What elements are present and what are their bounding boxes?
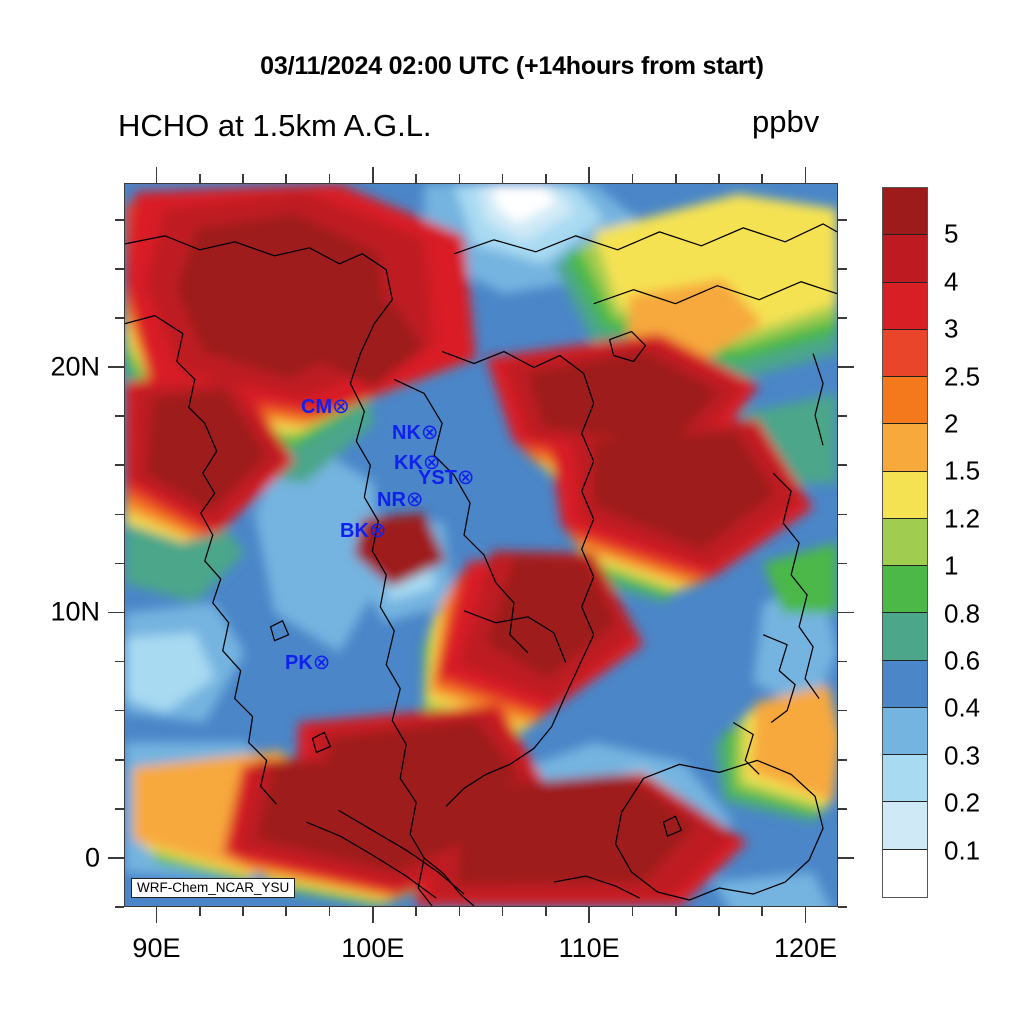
colorbar-band: [883, 235, 927, 282]
colorbar-tick-label: 0.6: [944, 646, 980, 677]
y-tick: [115, 317, 124, 319]
station-marker-nk[interactable]: NK⊗: [392, 422, 439, 443]
x-tick: [415, 907, 417, 916]
x-tick-top: [718, 174, 720, 183]
colorbar-band: [883, 755, 927, 802]
hcho-concentration-field: [125, 184, 837, 906]
colorbar-tick-label: 0.1: [944, 835, 980, 866]
units-label: ppbv: [752, 104, 819, 140]
x-tick: [805, 907, 807, 923]
plot-subtitle: HCHO at 1.5km A.G.L.: [118, 108, 432, 144]
colorbar-band: [883, 330, 927, 377]
station-label-bk: BK: [340, 520, 369, 542]
x-tick-top: [632, 174, 634, 183]
station-label-yst: YST: [418, 467, 457, 489]
colorbar-tick-label: 0.3: [944, 740, 980, 771]
y-tick-right: [838, 906, 847, 908]
colorbar-band: [883, 424, 927, 471]
x-tick: [242, 907, 244, 916]
y-tick-right: [838, 219, 847, 221]
x-tick-top: [588, 167, 590, 183]
y-tick: [108, 366, 124, 368]
colorbar-tick-label: 2.5: [944, 361, 980, 392]
y-tick-right: [838, 808, 847, 810]
colorbar-band: [883, 613, 927, 660]
x-tick-top: [285, 174, 287, 183]
x-tick: [459, 907, 461, 916]
y-tick: [115, 808, 124, 810]
colorbar-band: [883, 519, 927, 566]
y-tick-right: [838, 268, 847, 270]
x-tick: [545, 907, 547, 916]
station-marker-yst[interactable]: YST⊗: [418, 467, 475, 488]
figure-canvas: 03/11/2024 02:00 UTC (+14hours from star…: [0, 0, 1024, 1024]
station-symbol-icon: ⊗: [406, 488, 424, 511]
station-label-nr: NR: [377, 489, 406, 511]
colorbar[interactable]: [882, 187, 928, 898]
station-marker-bk[interactable]: BK⊗: [340, 520, 387, 541]
x-tick: [632, 907, 634, 916]
y-axis-label: 20N: [0, 352, 100, 383]
x-tick: [675, 907, 677, 916]
page-title: 03/11/2024 02:00 UTC (+14hours from star…: [0, 52, 1024, 81]
x-tick-top: [545, 174, 547, 183]
y-tick: [108, 857, 124, 859]
x-tick-top: [761, 174, 763, 183]
station-symbol-icon: ⊗: [457, 466, 475, 489]
colorbar-band: [883, 566, 927, 613]
x-tick: [329, 907, 331, 916]
y-tick: [115, 661, 124, 663]
colorbar-tick-label: 5: [944, 219, 958, 250]
y-tick-right: [838, 759, 847, 761]
y-tick: [115, 906, 124, 908]
y-tick: [115, 464, 124, 466]
x-tick-top: [242, 174, 244, 183]
x-tick-top: [675, 174, 677, 183]
colorbar-tick-label: 3: [944, 314, 958, 345]
colorbar-band: [883, 283, 927, 330]
station-symbol-icon: ⊗: [421, 421, 439, 444]
y-axis-label: 10N: [0, 597, 100, 628]
x-axis-label: 120E: [774, 933, 837, 964]
y-tick: [115, 514, 124, 516]
station-label-pk: PK: [285, 652, 313, 674]
colorbar-tick-label: 0.4: [944, 693, 980, 724]
station-label-nk: NK: [392, 422, 421, 444]
x-axis-label: 100E: [341, 933, 404, 964]
x-tick: [285, 907, 287, 916]
y-tick-right: [838, 415, 847, 417]
y-tick-right: [838, 710, 847, 712]
y-tick-right: [838, 612, 854, 614]
y-tick: [115, 219, 124, 221]
colorbar-band: [883, 377, 927, 424]
model-watermark: WRF-Chem_NCAR_YSU: [131, 878, 295, 898]
x-tick: [502, 907, 504, 916]
y-tick: [115, 710, 124, 712]
colorbar-band: [883, 661, 927, 708]
x-tick-top: [459, 174, 461, 183]
y-tick: [108, 612, 124, 614]
station-symbol-icon: ⊗: [313, 651, 331, 674]
x-tick-top: [415, 174, 417, 183]
colorbar-band: [883, 708, 927, 755]
x-tick-top: [805, 167, 807, 183]
colorbar-tick-label: 2: [944, 409, 958, 440]
y-tick-right: [838, 464, 847, 466]
station-marker-pk[interactable]: PK⊗: [285, 652, 330, 673]
colorbar-band: [883, 472, 927, 519]
station-symbol-icon: ⊗: [332, 395, 350, 418]
x-tick-top: [156, 167, 158, 183]
y-tick: [115, 415, 124, 417]
colorbar-tick-label: 1: [944, 551, 958, 582]
station-marker-cm[interactable]: CM⊗: [301, 396, 350, 417]
x-tick: [761, 907, 763, 916]
x-tick-top: [502, 174, 504, 183]
x-tick: [156, 907, 158, 923]
station-marker-nr[interactable]: NR⊗: [377, 489, 424, 510]
colorbar-band: [883, 850, 927, 897]
map-plot-area[interactable]: WRF-Chem_NCAR_YSU CM⊗ NK⊗ KK⊗ YST⊗ NR⊗ B…: [124, 183, 838, 907]
y-tick-right: [838, 563, 847, 565]
colorbar-tick-label: 0.8: [944, 598, 980, 629]
y-tick: [115, 268, 124, 270]
x-tick: [372, 907, 374, 923]
colorbar-tick-label: 1.2: [944, 503, 980, 534]
x-tick: [199, 907, 201, 916]
y-tick-right: [838, 857, 854, 859]
x-axis-label: 110E: [559, 933, 620, 964]
y-tick-right: [838, 366, 854, 368]
colorbar-band: [883, 188, 927, 235]
colorbar-tick-label: 0.2: [944, 788, 980, 819]
y-tick-right: [838, 661, 847, 663]
x-tick-top: [372, 167, 374, 183]
colorbar-tick-label: 1.5: [944, 456, 980, 487]
y-tick: [115, 563, 124, 565]
x-tick: [718, 907, 720, 916]
x-tick-top: [199, 174, 201, 183]
colorbar-band: [883, 802, 927, 849]
x-axis-label: 90E: [132, 933, 180, 964]
y-tick-right: [838, 514, 847, 516]
y-tick: [115, 759, 124, 761]
colorbar-tick-label: 4: [944, 266, 958, 297]
y-tick-right: [838, 317, 847, 319]
station-label-cm: CM: [301, 396, 332, 418]
x-tick-top: [329, 174, 331, 183]
station-symbol-icon: ⊗: [369, 519, 387, 542]
x-tick: [588, 907, 590, 923]
y-axis-label: 0: [0, 842, 100, 873]
